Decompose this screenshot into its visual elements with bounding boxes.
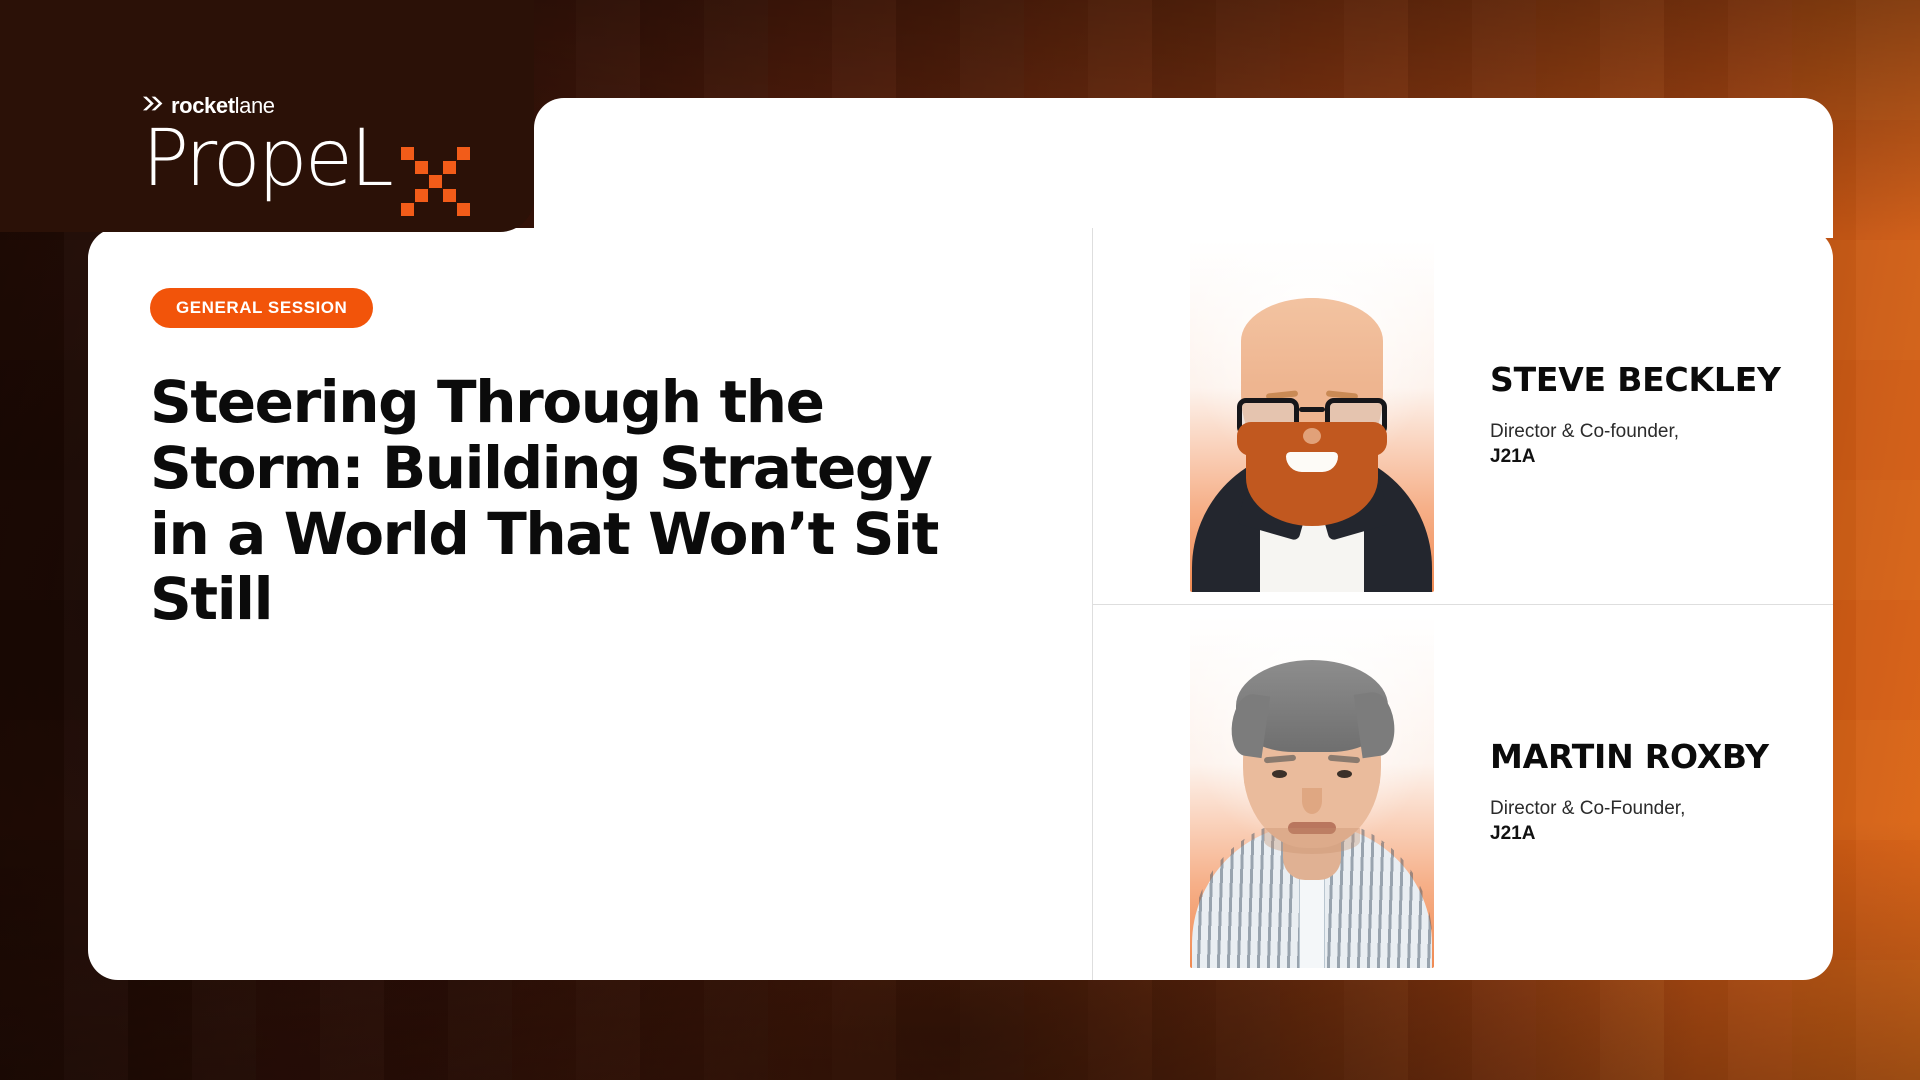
speaker-portrait-martin-roxby (1190, 616, 1434, 968)
slide-canvas: rocketlane PropeL GENERAL SESSION Steeri… (0, 0, 1920, 1080)
speaker-name: STEVE BECKLEY (1490, 362, 1781, 399)
speakers-pane: STEVE BECKLEY Director & Co-founder, J21… (1092, 228, 1833, 980)
session-pane: GENERAL SESSION Steering Through the Sto… (88, 228, 1092, 980)
session-title: Steering Through the Storm: Building Str… (150, 370, 960, 633)
speaker-info: STEVE BECKLEY Director & Co-founder, J21… (1490, 362, 1801, 469)
speaker-card: STEVE BECKLEY Director & Co-founder, J21… (1092, 228, 1833, 604)
brand-logo-block: rocketlane PropeL (142, 95, 470, 216)
speaker-card: MARTIN ROXBY Director & Co-Founder, J21A (1092, 604, 1833, 981)
session-card: GENERAL SESSION Steering Through the Sto… (88, 228, 1833, 980)
speaker-info: MARTIN ROXBY Director & Co-Founder, J21A (1490, 739, 1789, 846)
speaker-portrait-steve-beckley (1190, 240, 1434, 592)
card-top-extension (534, 98, 1833, 238)
propel-wordmark: PropeL (142, 121, 391, 197)
speaker-company: J21A (1490, 444, 1781, 469)
session-type-badge: GENERAL SESSION (150, 288, 373, 328)
speaker-name: MARTIN ROXBY (1490, 739, 1769, 776)
propel-lockup: PropeL (142, 121, 470, 216)
speaker-role: Director & Co-Founder, (1490, 796, 1769, 821)
pixel-x-icon (401, 147, 470, 216)
speaker-company: J21A (1490, 821, 1769, 846)
speaker-role: Director & Co-founder, (1490, 419, 1781, 444)
